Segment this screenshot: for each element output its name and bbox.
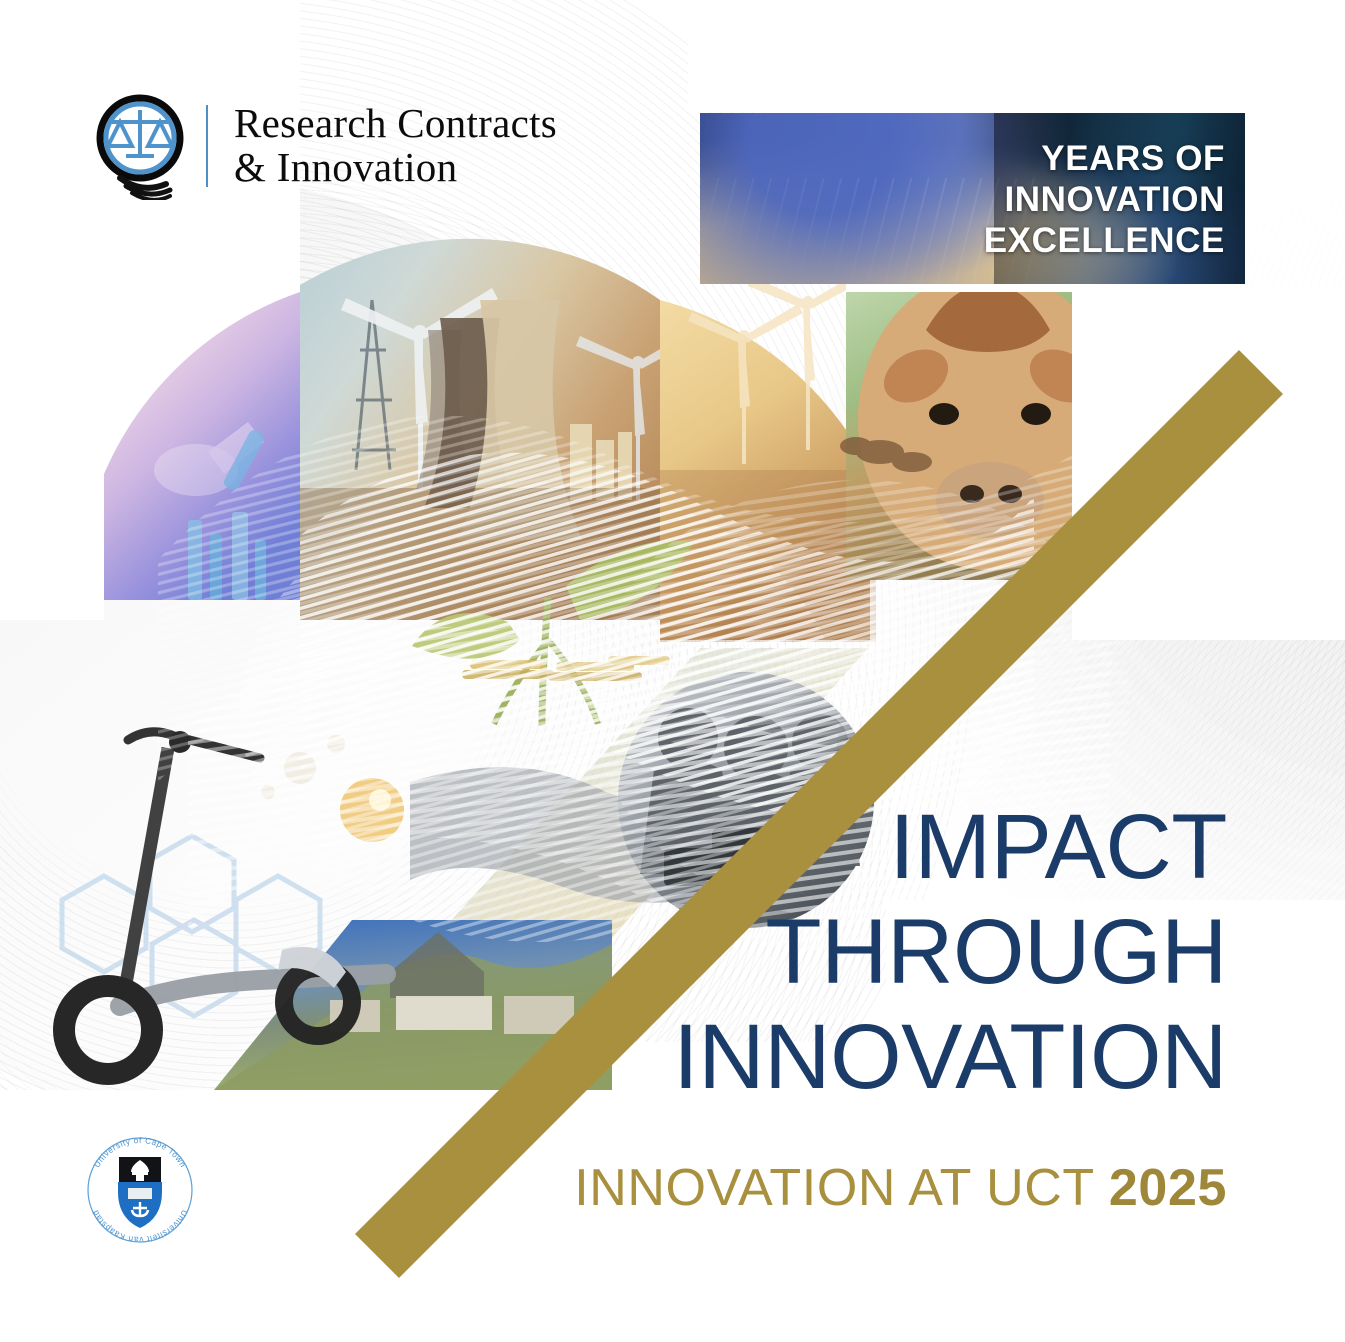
- badge-text: YEARS OF INNOVATION EXCELLENCE: [984, 139, 1225, 262]
- rci-wordmark: Research Contracts & Innovation: [234, 102, 557, 190]
- rci-scales-logo-icon: [88, 92, 192, 200]
- page-title: IMPACT THROUGH INNOVATION: [673, 795, 1227, 1110]
- subtitle-year: 2025: [1109, 1159, 1227, 1217]
- rci-logo-block: Research Contracts & Innovation: [88, 92, 557, 200]
- report-cover: Research Contracts & Innovation YEARS OF…: [0, 0, 1345, 1342]
- subtitle: INNOVATION AT UCT 2025: [574, 1158, 1227, 1218]
- logo-divider: [206, 105, 208, 187]
- years-of-innovation-excellence-badge: YEARS OF INNOVATION EXCELLENCE: [700, 113, 1245, 284]
- uct-crest-logo-icon: University of Cape Town Universiteit van…: [80, 1130, 200, 1250]
- subtitle-prefix: INNOVATION AT UCT: [574, 1159, 1109, 1217]
